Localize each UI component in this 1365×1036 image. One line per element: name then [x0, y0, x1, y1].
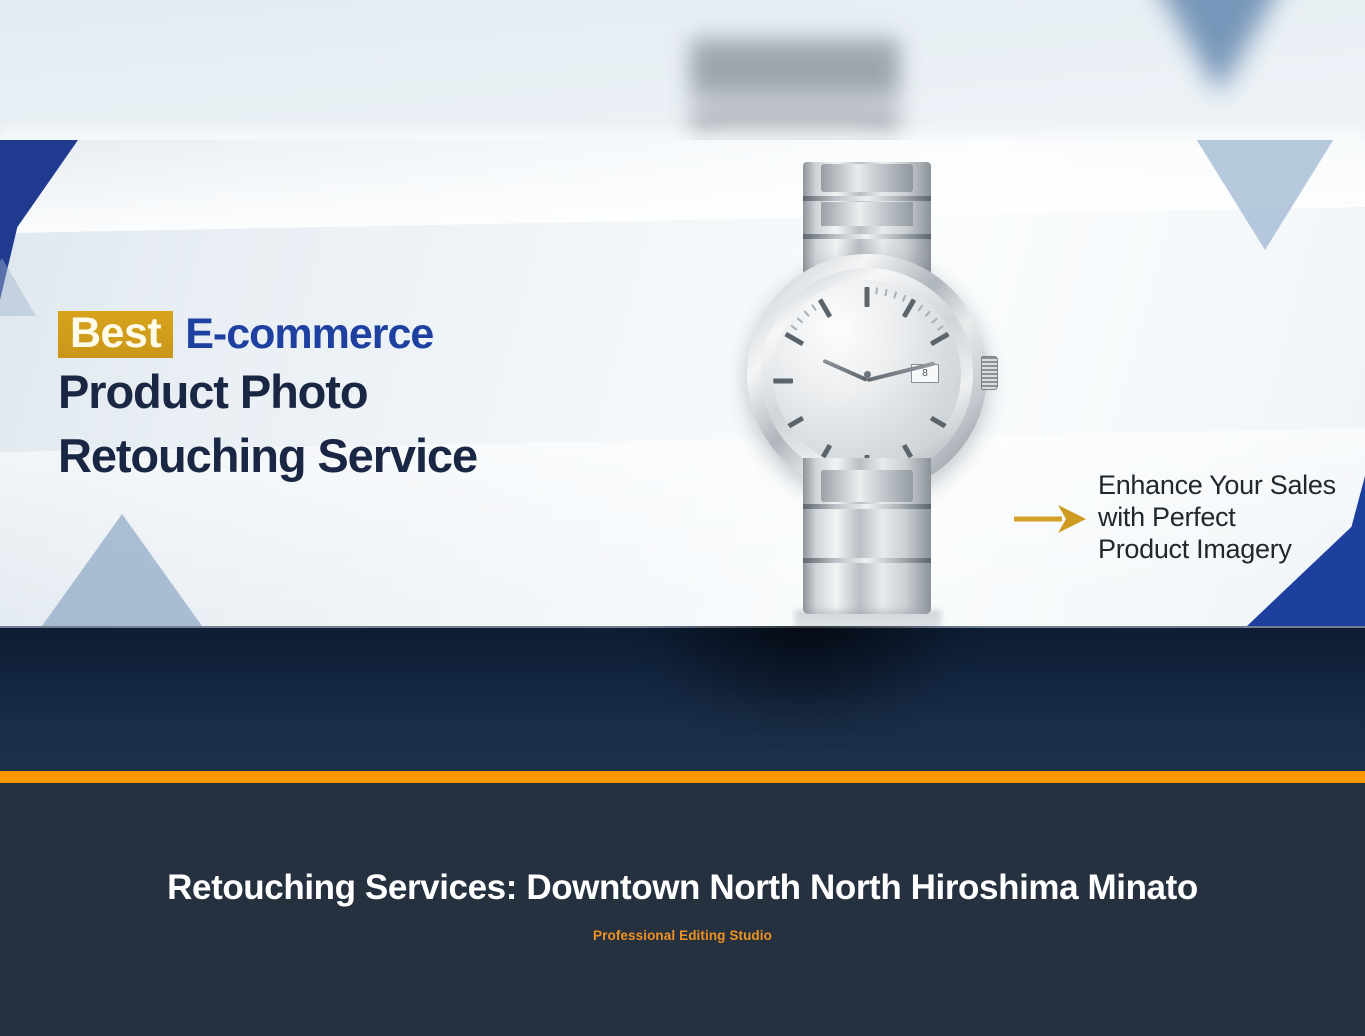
corner-triangle-left-small — [0, 258, 36, 316]
watch-tick-minor — [797, 318, 803, 324]
watch-tick-minor — [791, 325, 798, 330]
watch-tick-minor — [931, 318, 937, 324]
promo-banner: 8 Best E-commerce Product Photo Retouchi… — [0, 140, 1365, 626]
backdrop-sheen — [0, 122, 1365, 142]
watch-tick-minor — [925, 311, 931, 317]
watch-tick-11 — [818, 298, 832, 318]
watch-tick-minor — [902, 295, 906, 302]
blurred-chevron-shape — [1111, 0, 1327, 94]
watch-tick-4 — [930, 416, 950, 430]
watch-tick-minor — [811, 305, 816, 312]
watch-tick-9 — [773, 379, 793, 384]
watch-center-pin — [864, 371, 871, 378]
watch-tick-minor — [937, 325, 944, 330]
caption-subtitle: Professional Editing Studio — [0, 928, 1365, 943]
watch-crown — [981, 356, 998, 390]
watch-bracelet-link-1 — [821, 164, 913, 192]
callout-tagline: Enhance Your Sales with Perfect Product … — [1098, 470, 1336, 566]
watch-bracelet-link-2 — [821, 202, 913, 226]
watch-tick-minor — [918, 305, 923, 312]
callout-arrow-icon — [1012, 502, 1090, 541]
watch-tick-10 — [784, 332, 804, 346]
watch-tick-12 — [865, 287, 870, 307]
product-watch-image: 8 — [735, 158, 995, 626]
corner-triangle-top-right — [1193, 140, 1337, 250]
navy-strip — [0, 626, 1365, 771]
best-badge: Best — [58, 311, 173, 359]
banner-sheen-top — [0, 140, 1365, 234]
caption-panel: Retouching Services: Downtown North Nort… — [0, 783, 1365, 1036]
watch-hour-hand — [822, 359, 867, 382]
watch-tick-minor — [884, 289, 887, 296]
corner-triangle-bottom-left — [42, 514, 202, 626]
watch-tick-8 — [784, 416, 804, 430]
banner-headline: Best E-commerce Product Photo Retouching… — [58, 310, 477, 487]
navy-reflection — [640, 626, 970, 728]
watch-tick-minor — [804, 311, 810, 317]
watch-reflection — [795, 610, 941, 626]
watch-tick-2 — [930, 332, 950, 346]
headline-line-1: Best E-commerce — [58, 310, 477, 359]
tagline-line-2: with Perfect — [1098, 502, 1336, 534]
watch-bracelet-link-3 — [821, 470, 913, 502]
watch-tick-1 — [902, 298, 916, 318]
tagline-line-3: Product Imagery — [1098, 534, 1336, 566]
headline-ecommerce: E-commerce — [185, 310, 433, 359]
watch-bezel: 8 — [761, 268, 973, 480]
watch-dial: 8 — [773, 280, 961, 468]
caption-title: Retouching Services: Downtown North Nort… — [0, 868, 1365, 908]
watch-tick-minor — [875, 287, 877, 294]
orange-divider — [0, 771, 1365, 783]
headline-line-2: Product Photo — [58, 361, 477, 423]
tagline-line-1: Enhance Your Sales — [1098, 470, 1336, 502]
headline-line-3: Retouching Service — [58, 425, 477, 487]
blurred-backdrop — [0, 0, 1365, 142]
watch-tick-minor — [893, 291, 897, 298]
